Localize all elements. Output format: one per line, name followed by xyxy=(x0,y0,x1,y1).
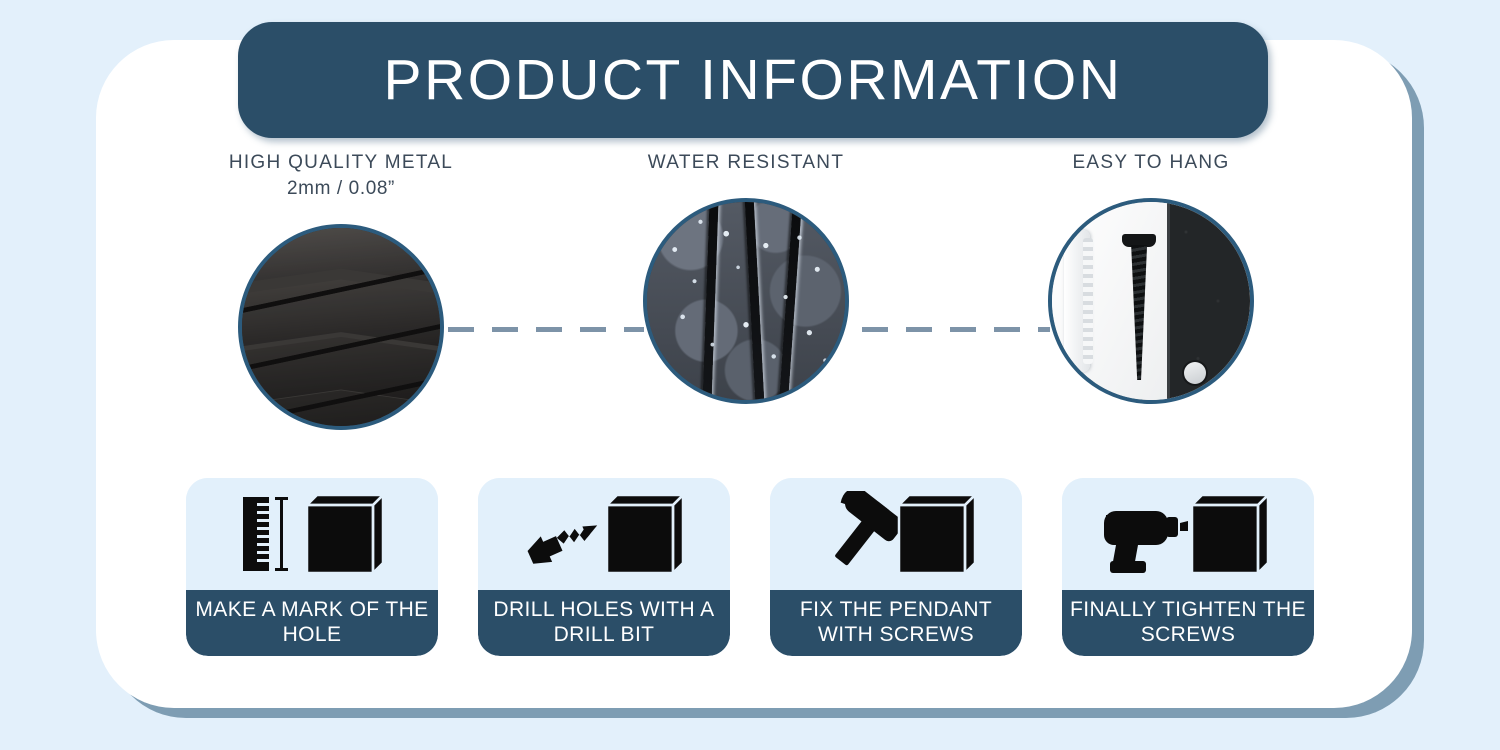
feature-image-wrap xyxy=(238,224,444,430)
connector-dashed-line xyxy=(862,327,1050,332)
step-icon-area xyxy=(186,478,438,590)
drill-bit-icon xyxy=(524,514,603,570)
header-banner: PRODUCT INFORMATION xyxy=(238,22,1268,138)
feature-title: HIGH QUALITY METAL xyxy=(176,150,506,176)
water-droplets-photo xyxy=(643,198,849,404)
product-information-graphic: PRODUCT INFORMATION HIGH QUALITY METAL 2… xyxy=(0,0,1500,750)
feature-image-wrap xyxy=(643,198,849,404)
feature-row: HIGH QUALITY METAL 2mm / 0.08” W xyxy=(96,150,1412,450)
screw-icon xyxy=(1129,234,1149,381)
ruler-icon xyxy=(243,497,269,571)
wall-anchor xyxy=(1064,230,1090,373)
fix-pendant-icon-group xyxy=(814,491,979,577)
tighten-screws-icon-group xyxy=(1104,491,1272,577)
step-icon-area xyxy=(770,478,1022,590)
screw-and-panel-photo xyxy=(1048,198,1254,404)
panel-box-icon xyxy=(307,495,383,573)
metal-panel xyxy=(1167,198,1250,404)
hanging-illustration xyxy=(1052,202,1250,400)
metal-sheets-illustration xyxy=(242,228,440,426)
step-card-tighten-screws: FINALLY TIGHTEN THE SCREWS xyxy=(1062,478,1314,656)
feature-title: WATER RESISTANT xyxy=(581,150,911,176)
feature-water-resistant: WATER RESISTANT xyxy=(581,150,911,404)
step-card-fix-pendant: FIX THE PENDANT WITH SCREWS xyxy=(770,478,1022,656)
connector-dashed-line xyxy=(448,327,644,332)
drill-holes-icon-group xyxy=(522,491,687,577)
panel-box-icon xyxy=(1192,495,1268,573)
stacked-metal-sheets-photo xyxy=(238,224,444,430)
feature-image-wrap xyxy=(1048,198,1254,404)
step-label: FINALLY TIGHTEN THE SCREWS xyxy=(1062,590,1314,656)
mounting-hole xyxy=(1184,362,1206,384)
step-icon-area xyxy=(1062,478,1314,590)
panel-box-icon xyxy=(899,495,975,573)
water-texture-illustration xyxy=(647,202,845,400)
screw-shaft xyxy=(1131,245,1147,381)
water-droplets xyxy=(647,202,845,400)
step-label: FIX THE PENDANT WITH SCREWS xyxy=(770,590,1022,656)
step-label: DRILL HOLES WITH A DRILL BIT xyxy=(478,590,730,656)
measure-bar-icon xyxy=(275,497,288,571)
page-title: PRODUCT INFORMATION xyxy=(384,47,1123,113)
mark-hole-icon-group xyxy=(237,491,387,577)
step-icon-area xyxy=(478,478,730,590)
instruction-steps-row: MAKE A MARK OF THE HOLE xyxy=(96,478,1412,656)
feature-subtitle: 2mm / 0.08” xyxy=(176,176,506,202)
feature-high-quality-metal: HIGH QUALITY METAL 2mm / 0.08” xyxy=(176,150,506,430)
step-card-drill-holes: DRILL HOLES WITH A DRILL BIT xyxy=(478,478,730,656)
panel-box-icon xyxy=(607,495,683,573)
step-card-mark-hole: MAKE A MARK OF THE HOLE xyxy=(186,478,438,656)
step-label: MAKE A MARK OF THE HOLE xyxy=(186,590,438,656)
hammer-icon xyxy=(814,491,906,577)
feature-easy-to-hang: EASY TO HANG xyxy=(986,150,1316,404)
feature-title: EASY TO HANG xyxy=(986,150,1316,176)
